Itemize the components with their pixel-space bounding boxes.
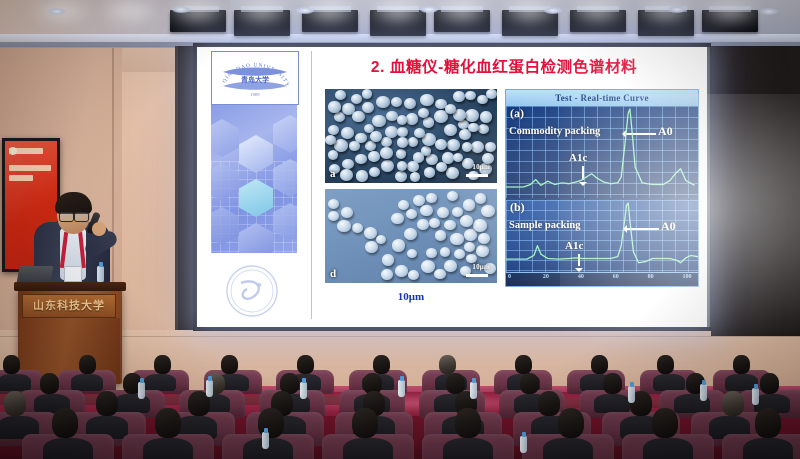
microsphere [434,269,446,280]
microsphere [423,117,434,127]
microsphere [473,219,487,232]
audience-head [154,355,171,374]
microsphere [397,137,408,148]
microsphere [391,97,402,107]
ceiling-downlight [420,6,438,13]
microsphere [435,139,447,150]
microsphere [342,159,354,170]
presentation-slide: QINGDAO UNIVERSITY 青岛大学 1909 [197,47,707,327]
microsphere [407,161,419,172]
chart-axis-line [506,272,698,273]
microsphere [468,123,478,133]
microsphere [372,115,385,127]
microsphere [420,205,433,217]
audience-head [603,373,622,394]
podium-water-bottle [97,266,104,283]
audience-shoulders [0,374,31,391]
microsphere [337,220,351,233]
audience-shoulders [143,438,192,459]
audience-head [3,355,20,374]
chart-panel-b: (b) Sample packing A0 A1c [506,200,698,272]
audience-head [221,355,238,374]
audience-head [733,355,750,374]
microsphere [369,167,380,177]
microsphere [464,229,477,241]
microsphere [381,269,393,280]
slide-sidebar: QINGDAO UNIVERSITY 青岛大学 1909 [211,49,297,317]
microsphere [381,160,394,172]
lecture-hall-photo: QINGDAO UNIVERSITY 青岛大学 1909 [0,0,800,459]
microsphere [328,101,340,112]
slide-logo-box: QINGDAO UNIVERSITY 青岛大学 1909 [211,51,299,105]
audience-head [760,373,779,394]
audience-shoulders [43,438,92,459]
projection-screen: QINGDAO UNIVERSITY 青岛大学 1909 [197,47,707,327]
audience-head [373,355,390,374]
microsphere [447,139,461,152]
microsphere [356,170,369,182]
microsphere [328,211,339,221]
ceiling-downlight [544,7,562,14]
audience-water-bottle [520,436,527,453]
microsphere [447,191,459,202]
audience-head [520,373,539,394]
microsphere [417,219,429,230]
audience-head [755,408,781,438]
microsphere [397,115,407,124]
logo-year: 1909 [250,92,260,97]
microsphere [395,171,407,182]
microsphere [376,96,390,109]
audience-head [515,355,532,374]
microsphere [421,260,435,273]
microsphere [408,137,418,146]
audience-shoulders [71,374,103,391]
sem-a-scale-label: 10μm [472,163,490,171]
microsphere [364,227,377,239]
x-tick-label: 60 [613,274,619,280]
audience-head [652,408,678,438]
audience-head [538,391,560,416]
audience-water-bottle [752,388,759,405]
chart-title: Test - Real-time Curve [506,90,698,106]
microsphere [404,228,417,240]
microsphere [395,265,408,277]
sem-d-scale-bar [466,274,488,277]
audience-head [657,355,674,374]
x-tick-label: 0 [508,274,511,280]
audience-head [722,391,744,416]
microsphere [485,142,496,152]
microsphere [481,205,495,218]
audience-head [40,373,59,394]
x-tick-label: 40 [578,274,584,280]
microsphere [349,141,359,151]
microsphere [453,91,465,102]
audience-head [52,408,78,438]
audience-water-bottle [470,382,477,399]
chart-panel-a-curve [506,106,698,198]
speaker-hand [92,222,106,236]
audience-water-bottle [138,382,145,399]
microsphere [426,248,437,258]
x-tick-label: 80 [648,274,654,280]
audience-head [96,391,118,416]
microsphere [440,247,451,257]
audience-shoulders [653,374,685,391]
microsphere [414,128,425,138]
microsphere [396,149,406,158]
microsphere [397,161,408,171]
microsphere [424,167,436,178]
microsphere [480,111,492,122]
microsphere [368,151,380,162]
microsphere [365,241,378,253]
microsphere [436,162,447,172]
microsphere [454,249,465,259]
ceiling-downlight [172,6,190,13]
microsphere [466,254,477,264]
audience-head [79,355,96,374]
chart-panel-b-curve [506,200,698,272]
chart-panel-a: (a) Commodity packing A0 A1c [506,106,698,198]
microsphere [471,141,485,153]
audience-head [4,391,26,416]
realtime-curve-chart: Test - Real-time Curve (a) Commodity pac… [505,89,699,287]
audience-head [558,408,584,438]
microsphere [376,235,386,245]
microsphere [381,137,392,147]
audience-head [591,355,608,374]
microsphere [406,113,419,125]
microsphere [465,91,475,101]
slide-watermark-logo [219,263,285,319]
speaker-glasses-right [74,212,89,222]
microsphere [341,207,353,218]
backdrop-edge [175,46,178,336]
microsphere [429,218,440,228]
microsphere [478,233,490,244]
microsphere [362,102,374,113]
microsphere [445,104,456,114]
sem-d-panel-letter: d [330,268,336,280]
audience-water-bottle [262,432,269,449]
sem-image-a: a 10μm [325,89,497,183]
audience-water-bottle [206,380,213,397]
microsphere [444,220,455,230]
ceiling-downlight [296,7,314,14]
microsphere [465,109,479,122]
logo-inner-text: 青岛大学 [241,75,269,84]
microsphere [426,193,437,203]
microsphere [406,209,417,219]
backdrop-right-column [711,46,800,336]
sem-a-scale-bar [466,174,488,177]
slide-hexagon-graphic [211,105,297,253]
microsphere [476,245,489,257]
microsphere [404,98,416,109]
microsphere [352,223,363,233]
microsphere [408,270,419,280]
microsphere [478,124,489,134]
audience-water-bottle [700,384,707,401]
microsphere [462,142,472,152]
microsphere [380,147,394,160]
audience-shoulders [594,394,630,413]
microsphere [410,172,420,181]
microsphere [458,120,469,130]
speaker-name-badge [64,266,82,282]
ceiling-downlight [48,8,66,15]
microsphere [328,150,339,160]
microsphere [362,89,373,99]
microsphere [437,207,449,218]
slide-title: 2. 血糖仪-糖化血红蛋白检测色谱材料 [305,55,703,77]
ceiling-downlight [668,6,686,13]
venue-name-text: 山东科技大学 [23,295,115,317]
audience-head [439,355,456,374]
speaker-hair [55,192,92,214]
audience-shoulders [343,438,392,459]
audience-shoulders [743,438,792,459]
audience-shoulders [643,438,692,459]
microsphere [444,260,457,272]
sem-image-d: d 10μm [325,189,497,283]
audience-shoulders [144,374,176,391]
microsphere [446,167,460,179]
microsphere [365,141,376,151]
trace-path [506,203,698,263]
speaker-glasses-left [59,212,74,222]
ceiling-downlight [760,8,778,15]
microsphere [464,242,475,252]
lectern-nameplate: 山东科技大学 [22,294,116,318]
qingdao-university-logo: QINGDAO UNIVERSITY 青岛大学 1909 [218,56,292,100]
microsphere [328,199,339,209]
audience-water-bottle [300,382,307,399]
microsphere [420,94,433,106]
audience-water-bottle [398,380,405,397]
chart-x-axis: 020406080100 [506,272,698,286]
microsphere [328,125,340,136]
audience-shoulders [543,438,592,459]
sem-d-scale-label: 10μm [472,263,490,271]
lectern-top-surface [14,282,126,291]
audience-head [155,408,181,438]
microsphere [335,90,346,100]
slide-scale-caption: 10μm [325,291,497,303]
microsphere [351,94,362,104]
audience-head [297,355,314,374]
microsphere [444,124,457,136]
sem-a-panel-letter: a [330,168,336,180]
audience-shoulders [443,438,492,459]
audience-head [352,408,378,438]
microsphere [386,111,397,122]
audience-water-bottle [628,386,635,403]
microsphere [486,89,497,99]
microsphere [340,169,353,181]
x-tick-label: 20 [543,274,549,280]
microsphere [475,193,486,203]
microsphere [391,213,403,224]
microsphere [352,111,365,123]
microsphere [382,254,394,265]
microsphere [341,127,354,139]
microsphere [392,239,405,251]
x-tick-label: 100 [683,274,692,280]
microsphere [460,215,473,227]
microsphere [397,127,408,137]
microsphere [355,154,366,164]
trace-path [506,109,695,187]
slide-sidebar-divider [311,51,312,319]
microsphere [463,199,476,211]
microsphere [435,230,446,240]
audience-head [455,408,481,438]
microsphere [450,233,464,246]
microsphere [407,249,418,259]
